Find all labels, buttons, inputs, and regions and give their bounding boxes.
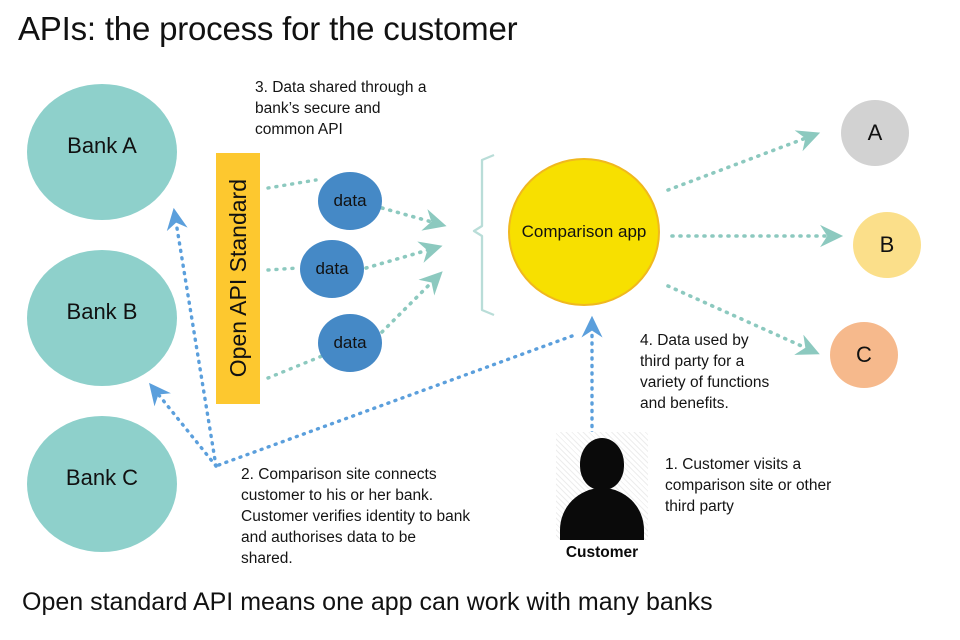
third-party-circle-b[interactable]: B — [853, 212, 921, 278]
bank-a-label: Bank A — [67, 133, 137, 159]
third-party-a-label: A — [868, 120, 883, 146]
third-party-b-label: B — [880, 232, 895, 258]
bank-b-label: Bank B — [67, 299, 138, 325]
note-step-2: 2. Comparison site connects customer to … — [241, 465, 503, 570]
arrow-app-to-third-parties — [668, 138, 828, 348]
customer-label: Customer — [556, 544, 648, 562]
data-circle-2-label: data — [315, 259, 348, 279]
note-step-3: 3. Data shared through a bank’s secure a… — [255, 78, 480, 141]
data-circle-1-label: data — [333, 191, 366, 211]
comparison-app-circle[interactable]: Comparison app — [508, 158, 660, 306]
open-api-standard-bar[interactable]: Open API Standard — [216, 153, 260, 404]
customer-group: Customer — [556, 432, 648, 562]
third-party-circle-a[interactable]: A — [841, 100, 909, 166]
arrow-to-bank-a — [176, 222, 216, 466]
note-step-4: 4. Data used by third party for a variet… — [640, 331, 800, 415]
data-circle-3[interactable]: data — [318, 314, 382, 372]
person-body-shape — [560, 488, 644, 540]
data-circle-3-label: data — [333, 333, 366, 353]
footer-caption: Open standard API means one app can work… — [22, 588, 713, 617]
diagram-canvas: APIs: the process for the customer Bank … — [0, 0, 960, 640]
page-title: APIs: the process for the customer — [18, 10, 517, 48]
open-api-standard-label: Open API Standard — [225, 179, 252, 377]
arrow-data-to-app — [366, 208, 432, 332]
bracket — [474, 155, 494, 315]
person-head-shape — [580, 438, 624, 490]
bank-c-label: Bank C — [66, 465, 138, 491]
data-circle-2[interactable]: data — [300, 240, 364, 298]
third-party-circle-c[interactable]: C — [830, 322, 898, 388]
bank-circle-a[interactable]: Bank A — [27, 84, 177, 220]
note-step-1: 1. Customer visits a comparison site or … — [665, 455, 860, 518]
data-circle-1[interactable]: data — [318, 172, 382, 230]
bank-circle-c[interactable]: Bank C — [27, 416, 177, 552]
arrow-app-to-banks — [216, 336, 572, 466]
comparison-app-label: Comparison app — [522, 222, 647, 242]
person-silhouette-icon — [556, 432, 648, 540]
bank-circle-b[interactable]: Bank B — [27, 250, 177, 386]
third-party-c-label: C — [856, 342, 872, 368]
